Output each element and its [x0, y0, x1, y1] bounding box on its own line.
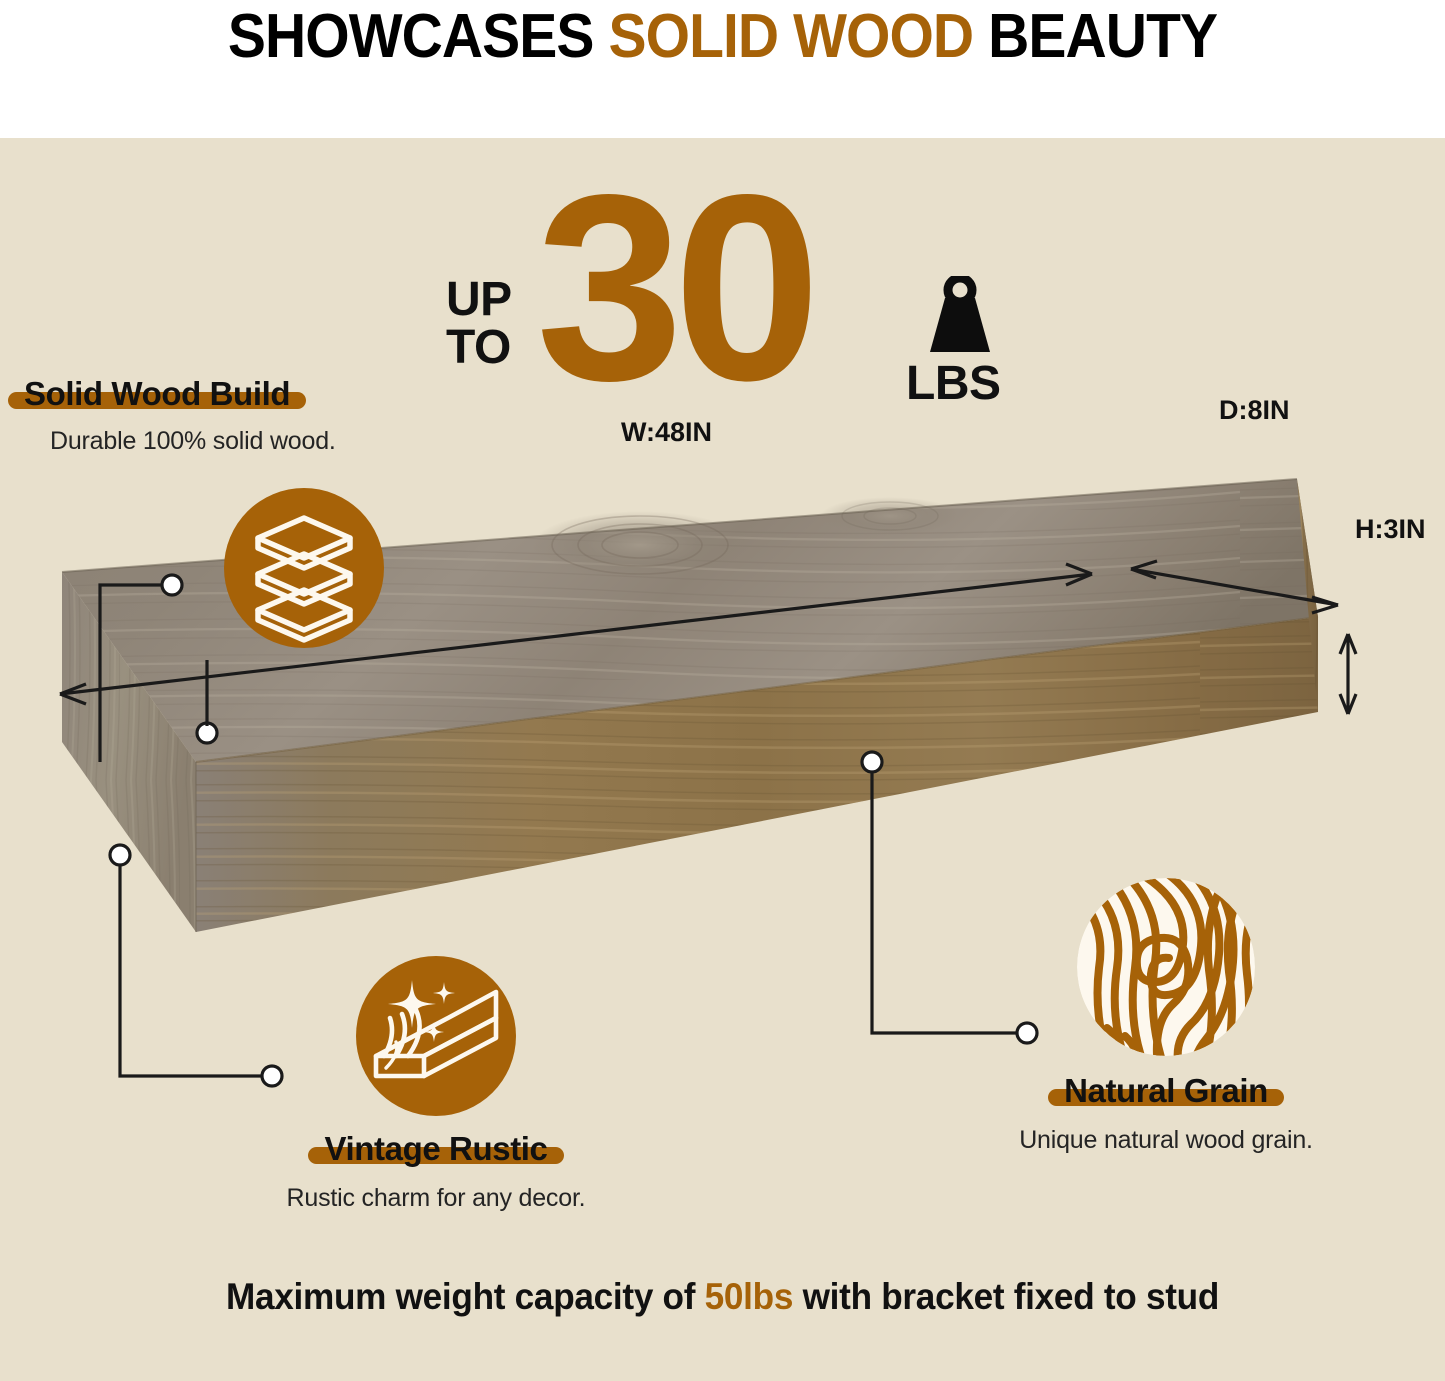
feature-title-natural-grain: Natural Grain: [1064, 1072, 1268, 1109]
infographic-canvas: SHOWCASES SOLID WOOD BEAUTY UP TO 30 LBS…: [0, 0, 1445, 1381]
capacity-to-word: TO: [446, 324, 512, 372]
feature-subtitle-solid-wood: Durable 100% solid wood.: [50, 427, 424, 456]
height-dimension-label: H:3IN: [1355, 514, 1426, 545]
weight-capacity-callout: UP TO 30 LBS: [440, 180, 1040, 410]
caption-part1: Maximum weight capacity of: [226, 1276, 705, 1317]
feature-title-wrap-vintage: Vintage Rustic: [324, 1130, 547, 1168]
feature-title-solid-wood: Solid Wood Build: [24, 375, 290, 412]
page-title-accent: SOLID WOOD: [608, 2, 973, 71]
feature-natural-grain: Natural Grain Unique natural wood grain.: [986, 878, 1346, 1155]
bottom-caption: Maximum weight capacity of 50lbs with br…: [36, 1276, 1409, 1318]
capacity-upto-label: UP TO: [446, 276, 512, 372]
feature-title-wrap-grain: Natural Grain: [1064, 1072, 1268, 1110]
page-title-part1: SHOWCASES: [228, 2, 609, 71]
feature-title-wrap-solid-wood: Solid Wood Build: [24, 375, 290, 413]
leader-dot-vintage-anchor: [110, 845, 130, 865]
feature-subtitle-vintage-rustic: Rustic charm for any decor.: [246, 1184, 626, 1213]
header-band: SHOWCASES SOLID WOOD BEAUTY: [0, 0, 1445, 138]
caption-part2: with bracket fixed to stud: [793, 1276, 1219, 1317]
stacked-wood-layers-icon: [224, 488, 384, 648]
capacity-number: 30: [536, 156, 811, 421]
page-title: SHOWCASES SOLID WOOD BEAUTY: [58, 2, 1387, 72]
leader-dot-solid-wood-anchor: [162, 575, 182, 595]
wood-plank-sparkle-icon: [356, 956, 516, 1116]
weight-icon: [924, 276, 996, 356]
feature-title-row-grain: Natural Grain: [986, 1072, 1346, 1110]
caption-accent: 50lbs: [705, 1276, 793, 1317]
capacity-unit-label: LBS: [906, 360, 1001, 408]
page-title-part2: BEAUTY: [973, 2, 1217, 71]
depth-dimension-label: D:8IN: [1219, 395, 1290, 426]
wood-grain-swirl-icon: [1077, 878, 1255, 1056]
feature-subtitle-natural-grain: Unique natural wood grain.: [986, 1126, 1346, 1155]
feature-vintage-rustic: Vintage Rustic Rustic charm for any deco…: [246, 956, 626, 1213]
feature-solid-wood-build: Solid Wood Build Durable 100% solid wood…: [24, 375, 424, 456]
width-dimension-label: W:48IN: [621, 417, 712, 448]
feature-title-vintage-rustic: Vintage Rustic: [324, 1130, 547, 1167]
feature-title-row-vintage: Vintage Rustic: [246, 1130, 626, 1168]
capacity-up-word: UP: [446, 276, 512, 324]
leader-dot-grain-anchor: [862, 752, 882, 772]
